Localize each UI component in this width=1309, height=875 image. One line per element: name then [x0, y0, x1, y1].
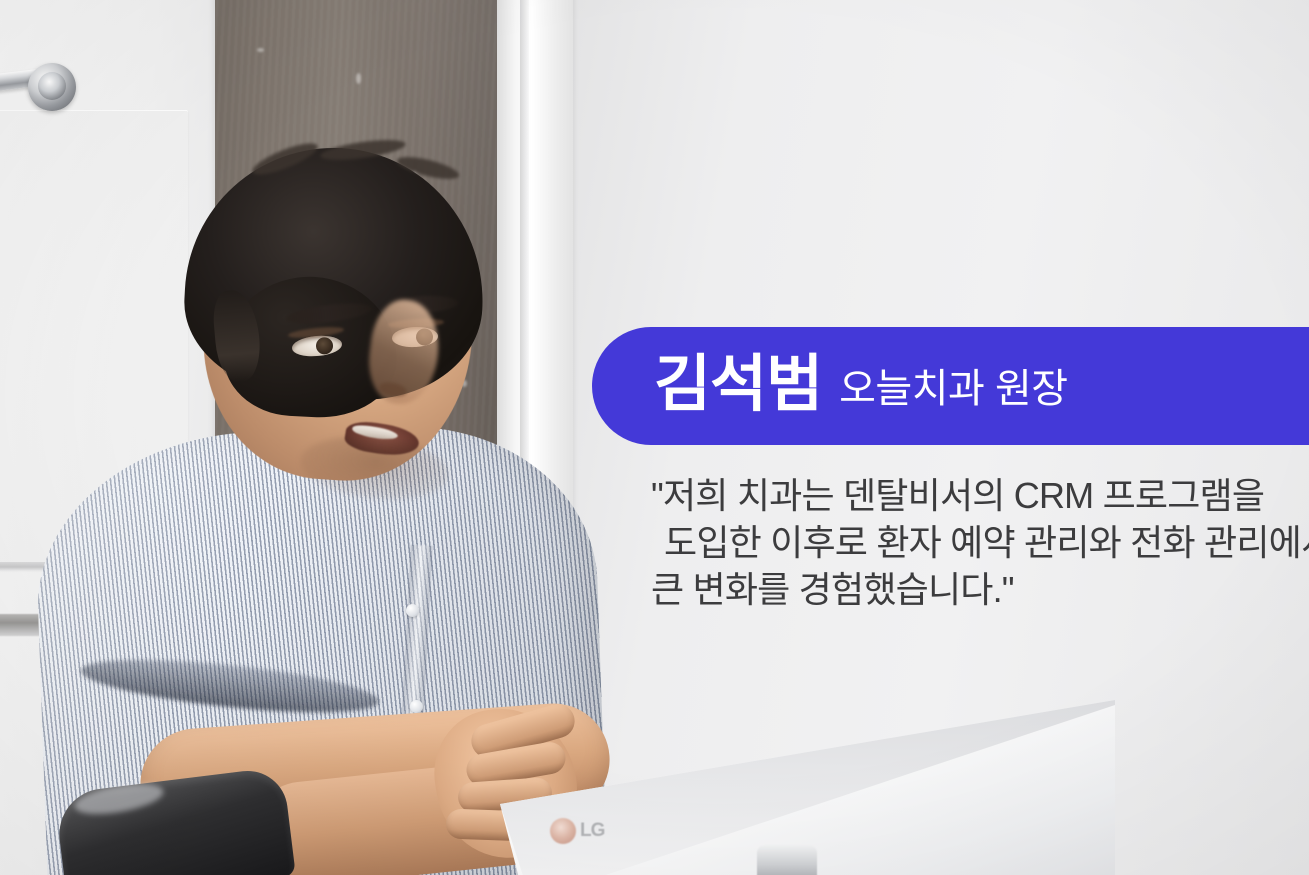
- lg-wordmark: LG: [580, 820, 604, 842]
- lg-mark-icon: [550, 818, 576, 844]
- quote-line-2: 도입한 이후로 환자 예약 관리와 전화 관리에서: [651, 519, 1291, 566]
- quote-line-1: "저희 치과는 덴탈비서의 CRM 프로그램을: [651, 472, 1291, 519]
- shirt-button: [406, 604, 419, 617]
- laptop-hinge: [757, 845, 817, 875]
- quote-line-3: 큰 변화를 경험했습니다.": [651, 566, 1291, 613]
- testimonial-quote: "저희 치과는 덴탈비서의 CRM 프로그램을 도입한 이후로 환자 예약 관리…: [651, 472, 1291, 613]
- speaker-name: 김석범: [654, 354, 822, 416]
- speaker-name-banner: 김석범 오늘치과 원장: [592, 327, 1309, 445]
- video-frame: LG 김석범 오늘치과 원장 "저희 치과는 덴탈비서의 CRM 프로그램을 도…: [0, 0, 1309, 875]
- lg-logo: LG: [550, 816, 618, 846]
- speaker-title: 오늘치과 원장: [839, 369, 1067, 409]
- iris: [315, 337, 333, 355]
- shirt-button: [410, 700, 423, 713]
